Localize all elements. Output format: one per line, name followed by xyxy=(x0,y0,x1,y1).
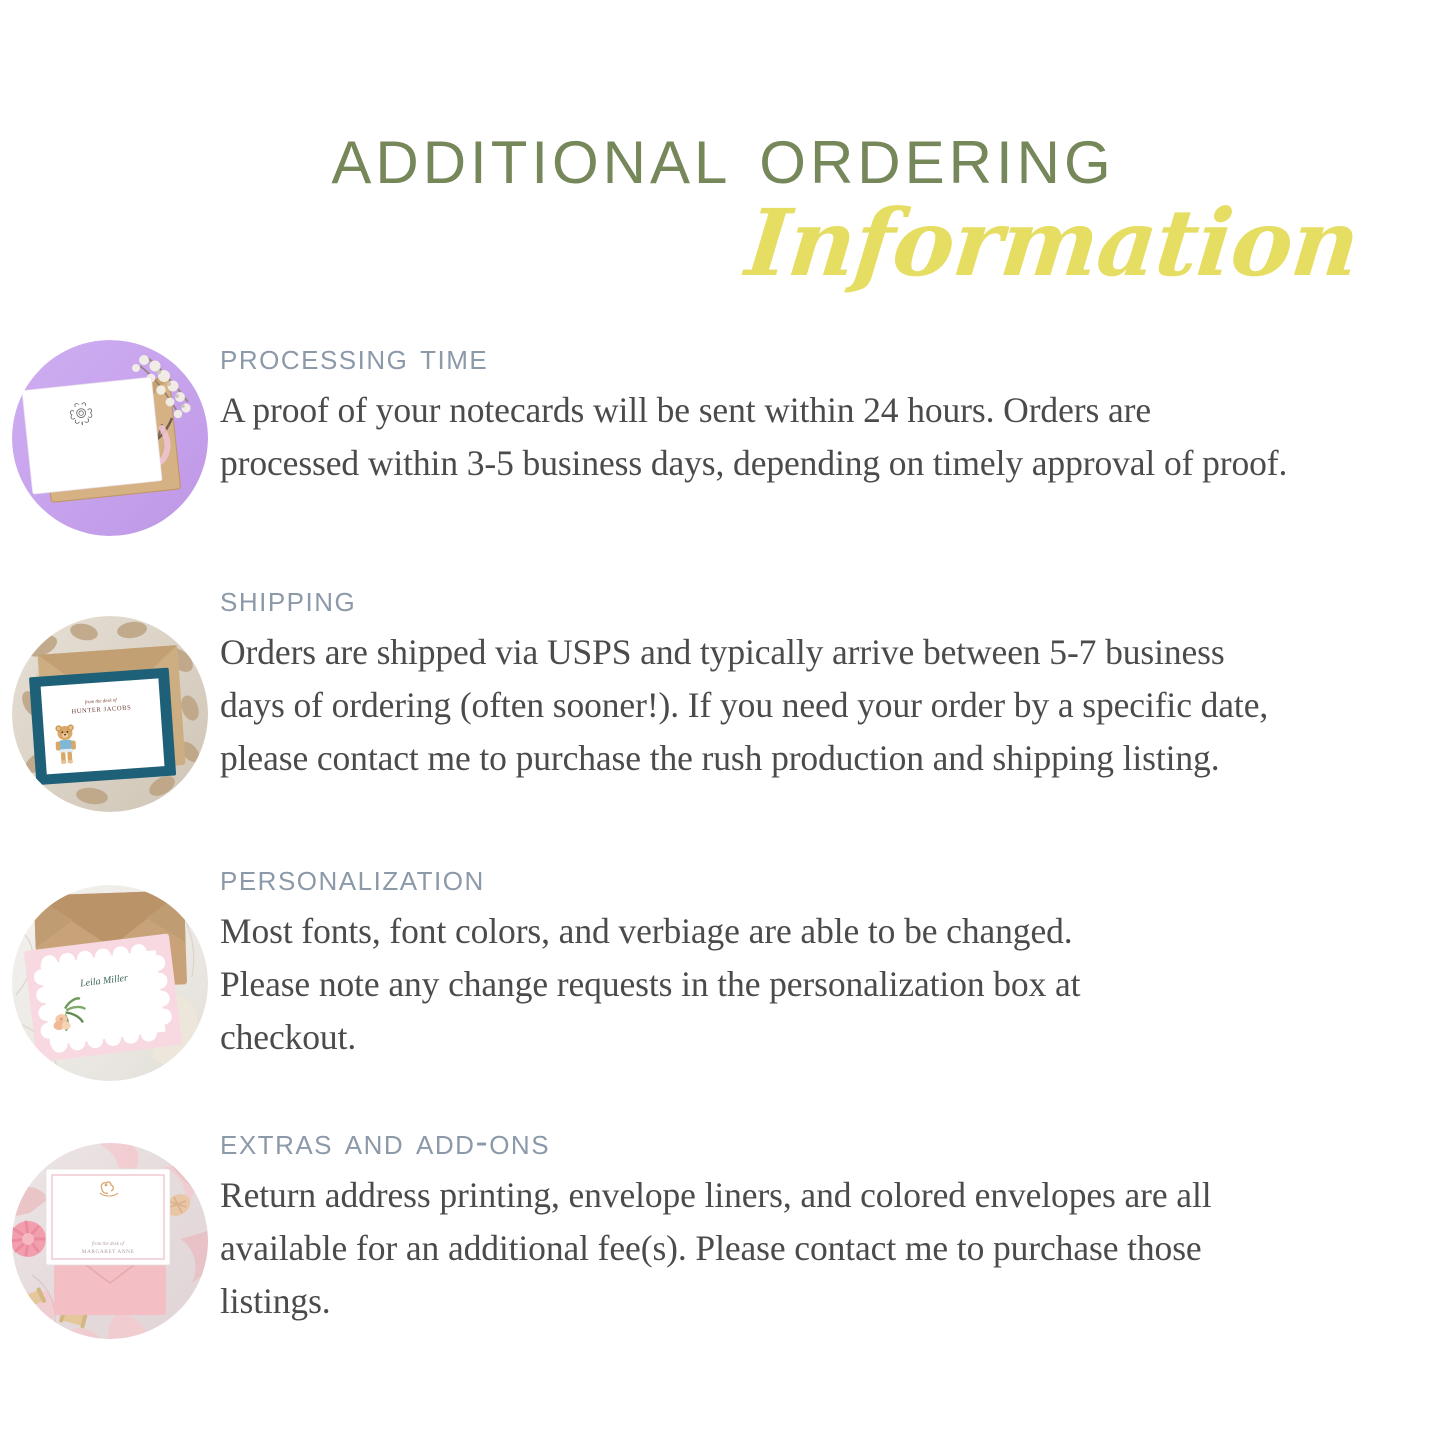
section-copy: Personalization Most fonts, font colors,… xyxy=(220,857,1445,1064)
section-heading-extras-and-add-ons: Extras and Add-Ons xyxy=(220,1121,1255,1163)
section-heading-personalization: Personalization xyxy=(220,857,1160,899)
section-body-personalization: Most fonts, font colors, and verbiage ar… xyxy=(220,905,1160,1064)
section-personalization: Leila Miller xyxy=(0,857,1445,1081)
information-sections: Processing Time A proof of your notecard… xyxy=(0,336,1445,1339)
thumbnail-wrap: from the desk of MARGARET ANNE xyxy=(0,1121,220,1339)
section-processing-time: Processing Time A proof of your notecard… xyxy=(0,336,1445,536)
svg-text:from the desk of: from the desk of xyxy=(92,1242,125,1247)
pink-scallop-notecard-photo: Leila Miller xyxy=(12,885,208,1081)
section-copy: Processing Time A proof of your notecard… xyxy=(220,336,1445,490)
section-body-extras-and-add-ons: Return address printing, envelope liners… xyxy=(220,1169,1255,1328)
thumbnail-wrap: Leila Miller xyxy=(0,857,220,1081)
page-title-primary: Additional Ordering xyxy=(128,108,1318,200)
section-heading-shipping: Shipping xyxy=(220,578,1285,620)
section-heading-processing-time: Processing Time xyxy=(220,336,1295,378)
svg-text:MARGARET ANNE: MARGARET ANNE xyxy=(82,1249,135,1255)
thumbnail-wrap: from the desk of HUNTER JACOBS xyxy=(0,578,220,812)
ordering-information-page: Additional Ordering Information xyxy=(0,0,1445,1445)
section-copy: Shipping Orders are shipped via USPS and… xyxy=(220,578,1445,785)
page-title-script: Information xyxy=(122,188,1364,298)
section-copy: Extras and Add-Ons Return address printi… xyxy=(220,1121,1445,1328)
section-shipping: from the desk of HUNTER JACOBS xyxy=(0,578,1445,812)
page-title: Additional Ordering Information xyxy=(0,108,1445,298)
section-body-shipping: Orders are shipped via USPS and typicall… xyxy=(220,626,1285,785)
section-body-processing-time: A proof of your notecards will be sent w… xyxy=(220,384,1295,490)
section-extras-and-add-ons: from the desk of MARGARET ANNE Extras an… xyxy=(0,1121,1445,1339)
thumbnail-wrap xyxy=(0,336,220,536)
teal-bear-notecard-photo: from the desk of HUNTER JACOBS xyxy=(12,616,208,812)
blush-envelope-notecard-photo: from the desk of MARGARET ANNE xyxy=(12,1143,208,1339)
lavender-notecard-photo xyxy=(12,340,208,536)
